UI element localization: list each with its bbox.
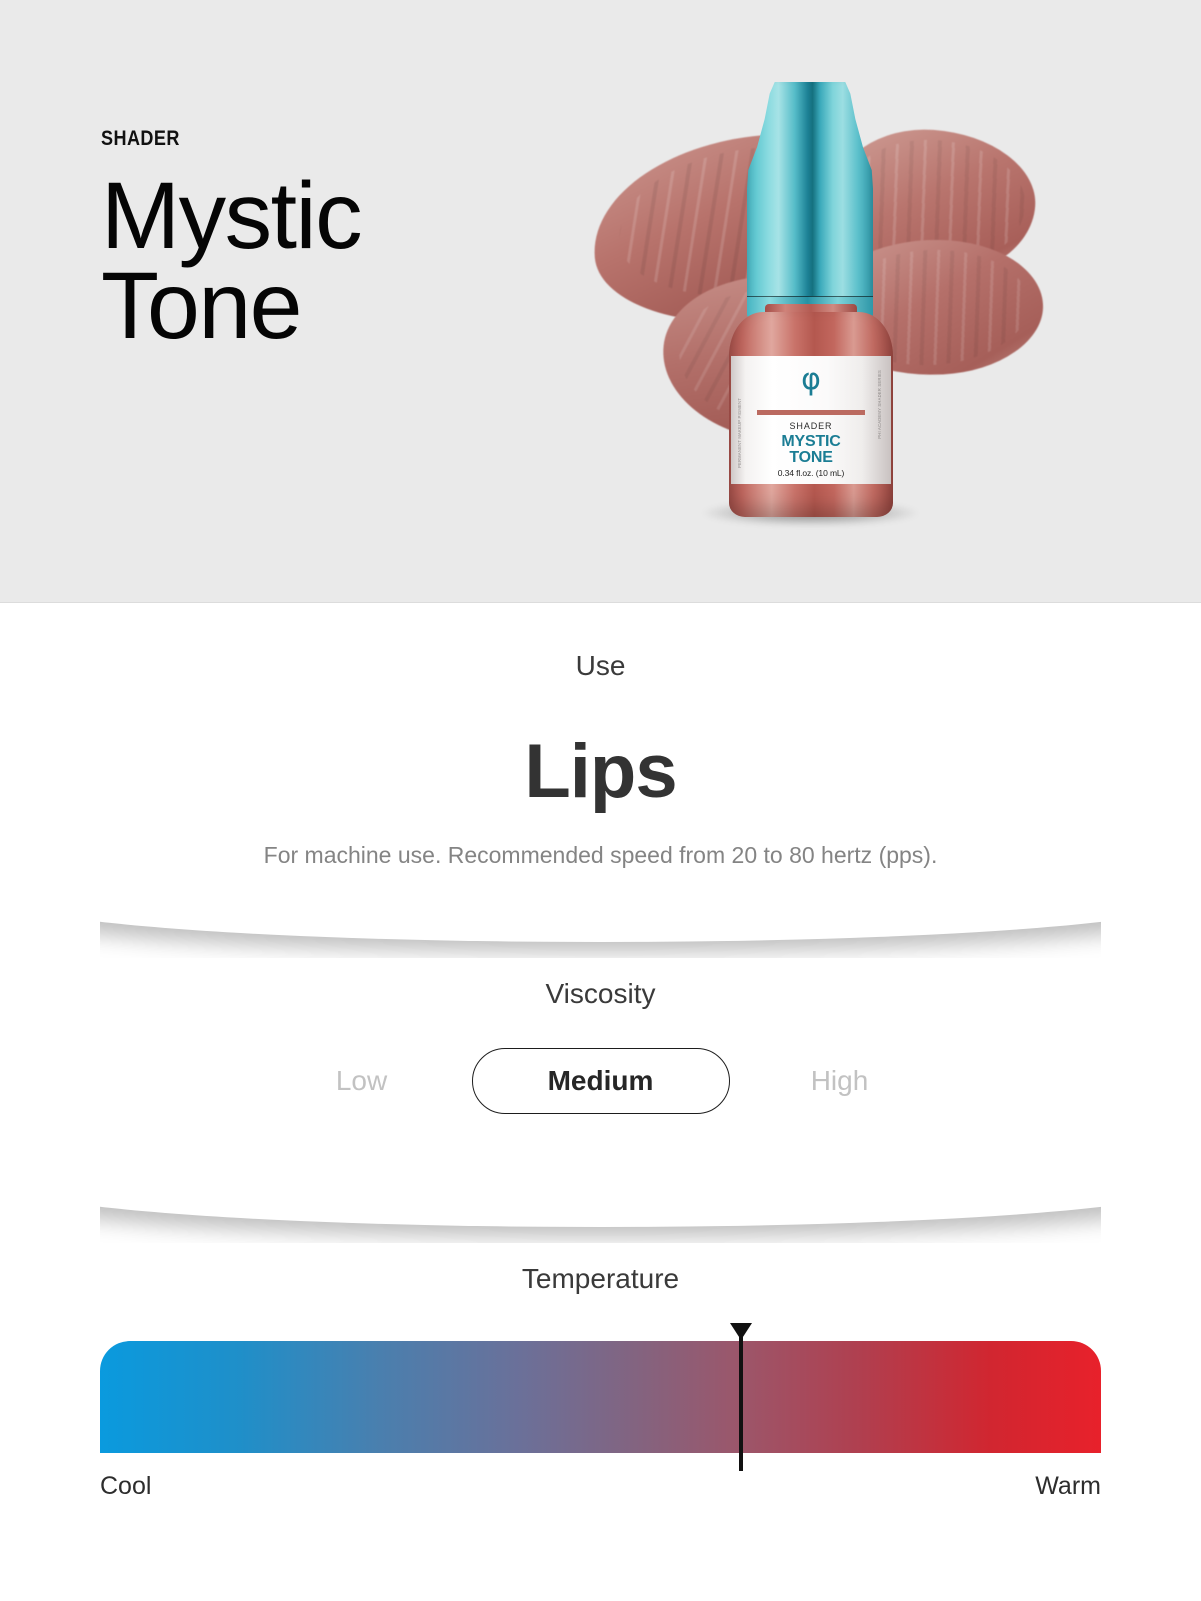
label-volume: 0.34 fl.oz. (10 mL)	[731, 468, 891, 478]
page-title-line-2: Tone	[101, 261, 581, 351]
hero-text-block: SHADER Mystic Tone	[101, 128, 581, 352]
product-image: PERMANENT MAKEUP PIGMENT PHI ACADEMY SHA…	[575, 60, 1045, 560]
temperature-heading: Temperature	[0, 1263, 1201, 1295]
use-note: For machine use. Recommended speed from …	[0, 842, 1201, 869]
section-divider	[100, 1185, 1101, 1243]
temperature-marker-icon	[739, 1323, 743, 1471]
temperature-gradient-bar	[100, 1341, 1101, 1453]
viscosity-option-medium[interactable]: Medium	[472, 1048, 730, 1114]
temperature-cool-label: Cool	[100, 1472, 151, 1501]
page-title-line-1: Mystic	[101, 171, 581, 261]
label-category: SHADER	[731, 421, 891, 431]
temperature-scale	[100, 1333, 1101, 1453]
viscosity-section: Viscosity Low Medium High	[0, 978, 1201, 1114]
product-category-eyebrow: SHADER	[101, 128, 514, 149]
viscosity-heading: Viscosity	[0, 978, 1201, 1010]
use-value: Lips	[0, 734, 1201, 810]
bottle-cap	[747, 82, 873, 314]
hero-banner: SHADER Mystic Tone PERMANENT MAKEUP PIGM…	[0, 0, 1201, 603]
viscosity-options: Low Medium High	[0, 1048, 1201, 1114]
use-heading: Use	[0, 650, 1201, 682]
use-section: Use Lips For machine use. Recommended sp…	[0, 650, 1201, 869]
pigment-bottle: PERMANENT MAKEUP PIGMENT PHI ACADEMY SHA…	[721, 82, 901, 517]
section-divider	[100, 900, 1101, 958]
page-title: Mystic Tone	[101, 171, 581, 352]
bottle-label: PERMANENT MAKEUP PIGMENT PHI ACADEMY SHA…	[731, 356, 891, 484]
temperature-warm-label: Warm	[1035, 1472, 1101, 1501]
viscosity-option-low[interactable]: Low	[252, 1065, 472, 1097]
phi-logo-icon: φ	[731, 365, 891, 395]
label-product-name-line-2: TONE	[789, 449, 832, 466]
temperature-scale-labels: Cool Warm	[100, 1472, 1101, 1501]
temperature-section: Temperature	[0, 1263, 1201, 1453]
product-spec-page: SHADER Mystic Tone PERMANENT MAKEUP PIGM…	[0, 0, 1201, 1601]
label-product-name: MYSTIC TONE	[731, 434, 891, 465]
viscosity-option-high[interactable]: High	[730, 1065, 950, 1097]
label-divider-rule	[757, 410, 865, 415]
label-product-name-line-1: MYSTIC	[781, 433, 840, 450]
